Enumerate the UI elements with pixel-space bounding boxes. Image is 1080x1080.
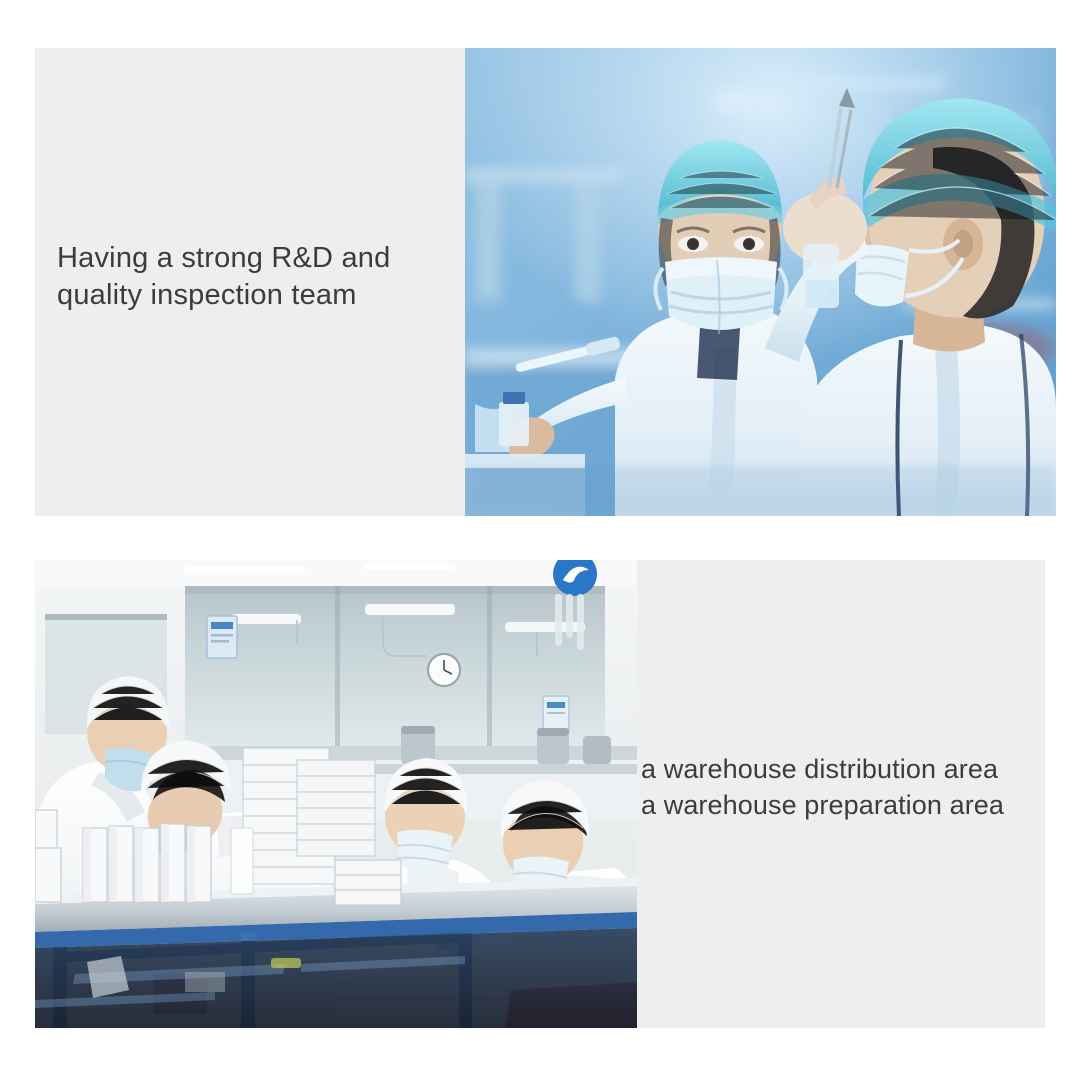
- warehouse-packing-area-photo: [35, 560, 637, 1028]
- warehouse-block: a warehouse distribution area a warehous…: [35, 560, 1045, 1028]
- caption-pane-right: a warehouse distribution area a warehous…: [637, 560, 1045, 1028]
- laboratory-photo-illustration: [465, 48, 1056, 516]
- laboratory-quality-inspection-photo: [465, 48, 1056, 516]
- rd-quality-caption: Having a strong R&D and quality inspecti…: [57, 240, 457, 314]
- warehouse-photo-illustration: [35, 560, 637, 1028]
- caption-pane-left: Having a strong R&D and quality inspecti…: [35, 48, 465, 516]
- warehouse-caption: a warehouse distribution area a warehous…: [641, 752, 1061, 824]
- rd-quality-block: Having a strong R&D and quality inspecti…: [35, 48, 1056, 516]
